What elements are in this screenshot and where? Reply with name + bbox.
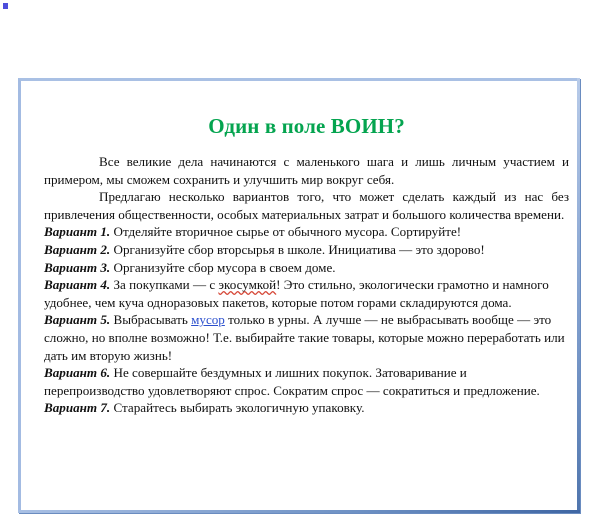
variant-label: Вариант 6. — [44, 365, 110, 380]
variant-label: Вариант 3. — [44, 260, 110, 275]
variant-text: Отделяйте вторичное сырье от обычного му… — [110, 224, 461, 239]
variant-item-2: Вариант 2. Организуйте сбор вторсырья в … — [44, 241, 569, 259]
variant-text: Организуйте сбор мусора в своем доме. — [110, 260, 335, 275]
variant-text: Не совершайте бездумных и лишних покупок… — [44, 365, 540, 398]
paragraph-intro-1: Все великие дела начинаются с маленького… — [44, 153, 569, 188]
variant-label: Вариант 1. — [44, 224, 110, 239]
variant-item-7: Вариант 7. Старайтесь выбирать экологичн… — [44, 399, 569, 417]
variant-text: Организуйте сбор вторсырья в школе. Иниц… — [110, 242, 485, 257]
variant-item-5: Вариант 5. Выбрасывать мусор только в ур… — [44, 311, 569, 364]
document-frame: Один в поле ВОИН? Все великие дела начин… — [18, 78, 580, 513]
hyperlink-musor[interactable]: мусор — [191, 312, 225, 327]
document-body: Один в поле ВОИН? Все великие дела начин… — [44, 95, 569, 417]
variant-label: Вариант 4. — [44, 277, 110, 292]
variant-item-3: Вариант 3. Организуйте сбор мусора в сво… — [44, 259, 569, 277]
paragraph-intro-2: Предлагаю несколько вариантов того, что … — [44, 188, 569, 223]
variant-label: Вариант 2. — [44, 242, 110, 257]
variant-label: Вариант 5. — [44, 312, 110, 327]
variant-item-1: Вариант 1. Отделяйте вторичное сырье от … — [44, 223, 569, 241]
corner-artifact — [3, 3, 8, 9]
spellcheck-word: экосумкой — [218, 277, 276, 292]
variant-text-before: Выбрасывать — [110, 312, 191, 327]
page-title: Один в поле ВОИН? — [44, 113, 569, 139]
variant-text-before: За покупками — с — [110, 277, 218, 292]
variant-label: Вариант 7. — [44, 400, 110, 415]
variant-item-4: Вариант 4. За покупками — с экосумкой! Э… — [44, 276, 569, 311]
variant-text: Старайтесь выбирать экологичную упаковку… — [110, 400, 364, 415]
variant-item-6: Вариант 6. Не совершайте бездумных и лиш… — [44, 364, 569, 399]
